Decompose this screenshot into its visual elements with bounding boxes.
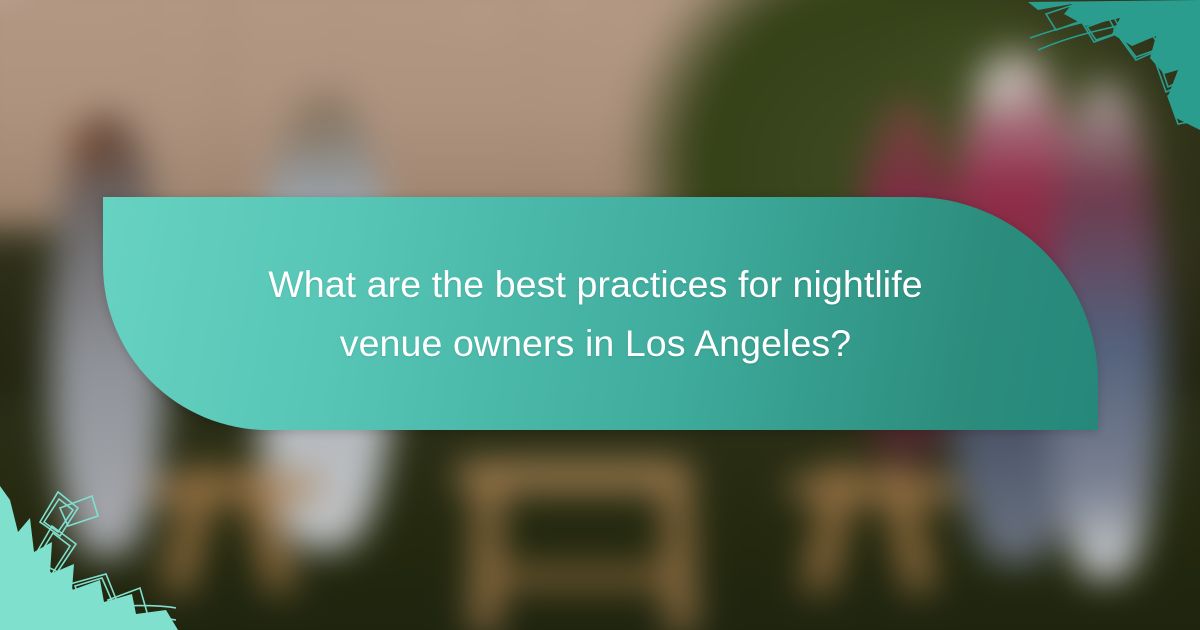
question-banner: What are the best practices for nightlif… (103, 197, 1098, 430)
picnic-bench (792, 477, 959, 501)
background-person-head (288, 102, 332, 150)
picnic-table-rail (485, 569, 677, 585)
picnic-bench (152, 477, 319, 501)
string-lights (421, 0, 703, 130)
picnic-table-leg (664, 471, 694, 630)
background-person-head (70, 123, 111, 168)
question-text: What are the best practices for nightlif… (103, 255, 1098, 371)
picnic-table-leg (472, 471, 502, 630)
social-share-card: What are the best practices for nightlif… (0, 0, 1200, 630)
background-person-head (978, 59, 1024, 110)
